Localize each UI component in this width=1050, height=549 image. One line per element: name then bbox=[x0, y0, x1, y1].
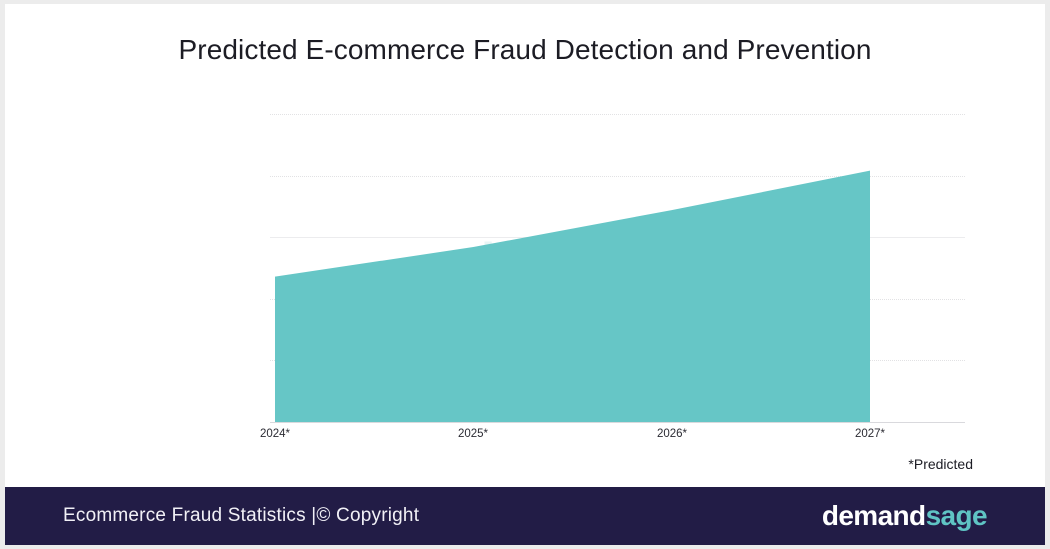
x-tick-label-2027: 2027* bbox=[855, 428, 885, 440]
infographic-page: Predicted E-commerce Fraud Detection and… bbox=[0, 0, 1050, 549]
page-title: Predicted E-commerce Fraud Detection and… bbox=[5, 34, 1045, 66]
area-polygon bbox=[275, 171, 870, 422]
predicted-footnote: *Predicted bbox=[908, 456, 973, 472]
x-tick-label-2025: 2025* bbox=[458, 428, 488, 440]
gridline-0 bbox=[270, 422, 965, 424]
footer-bar: Ecommerce Fraud Statistics |© Copyright … bbox=[5, 487, 1045, 545]
logo-word-sage: sage bbox=[926, 500, 987, 531]
x-tick-label-2024: 2024* bbox=[260, 428, 290, 440]
area-series bbox=[270, 114, 965, 422]
x-tick-label-2026: 2026* bbox=[657, 428, 687, 440]
plot-area: $125 billion $100 billion $75 billion $5… bbox=[270, 114, 965, 422]
chart-card: Predicted E-commerce Fraud Detection and… bbox=[5, 4, 1045, 545]
demandsage-logo: demandsage bbox=[822, 500, 987, 532]
footer-caption: Ecommerce Fraud Statistics |© Copyright bbox=[63, 505, 419, 527]
logo-word-demand: demand bbox=[822, 500, 926, 531]
